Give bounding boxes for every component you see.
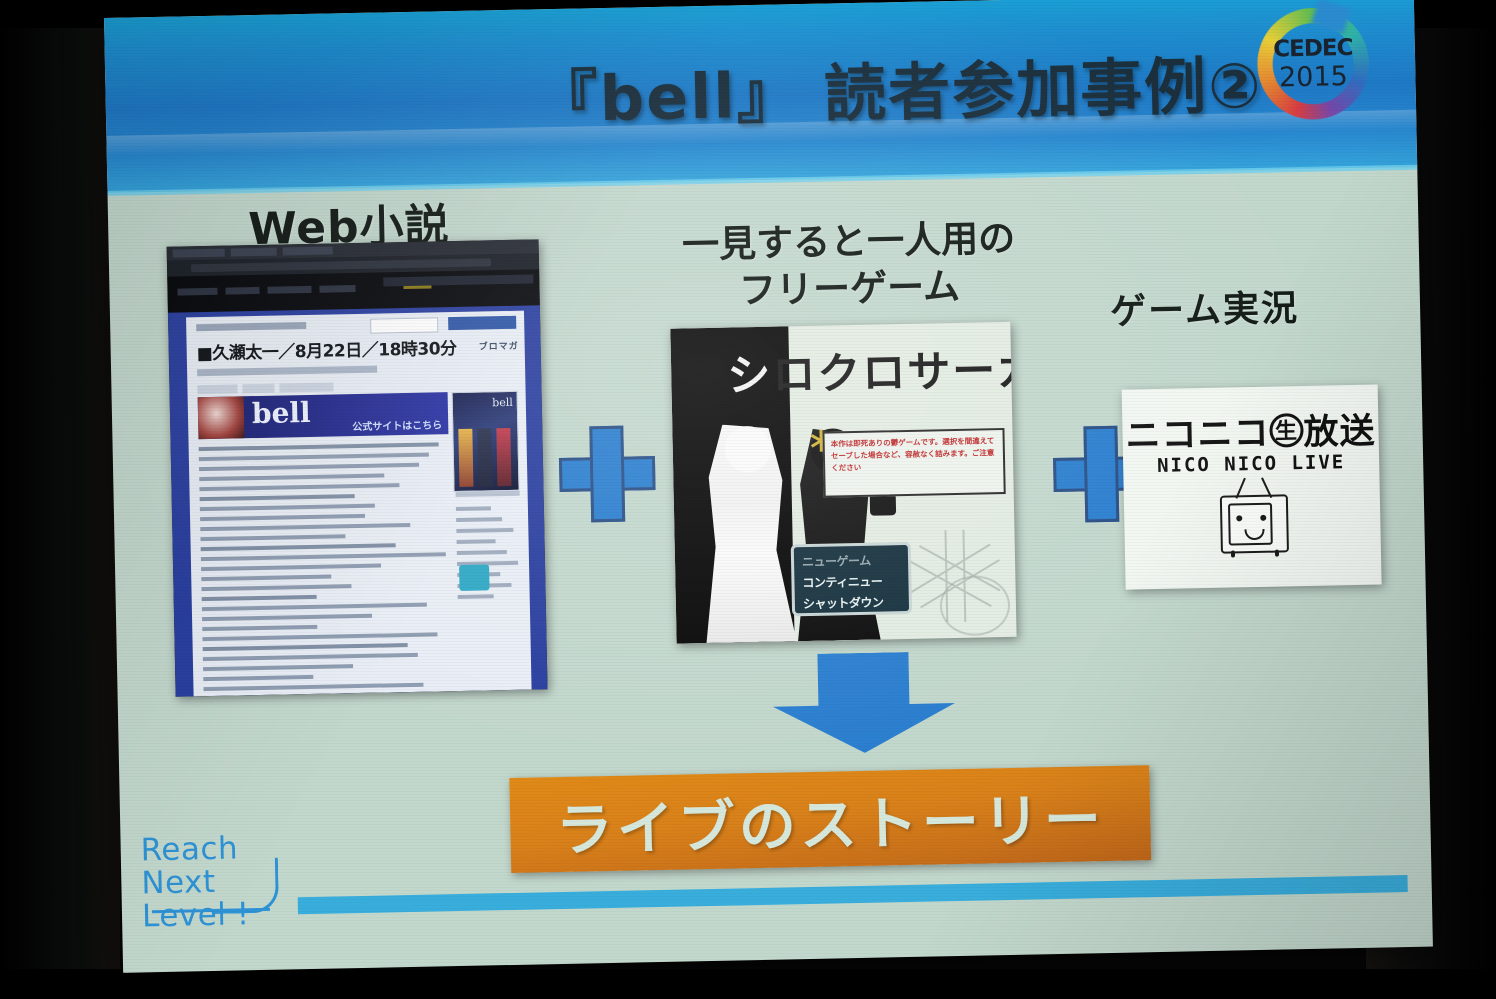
niconico-tv-mascot-icon bbox=[1220, 494, 1289, 553]
article-body-line bbox=[201, 552, 446, 561]
heading-live-stream: ゲーム実況 bbox=[1110, 279, 1300, 335]
room-left-edge bbox=[0, 0, 120, 999]
presentation-slide-wrapper: 『bell』 読者参加事例② CEDEC 2015 Web小説 一見すると一人用… bbox=[104, 0, 1423, 978]
sidebar-line bbox=[456, 517, 502, 522]
article-body-line bbox=[199, 483, 399, 491]
web-novel-browser-screenshot: ■久瀬太一／8月22日／18時30分 ブロマガ bell 公式サイトはこちら b… bbox=[167, 239, 548, 696]
bell-cover-image: bell bbox=[452, 391, 520, 492]
heading-free-game: 一見すると一人用の フリーゲーム bbox=[678, 215, 1020, 316]
article-body-line bbox=[199, 442, 439, 451]
article-body-line bbox=[199, 453, 429, 462]
reach-next-level-logo: Reach Next Level ! bbox=[140, 829, 292, 936]
game-title-menu[interactable]: ニューゲーム コンティニュー シャットダウン bbox=[791, 542, 912, 616]
site-nav-item bbox=[177, 288, 217, 296]
menu-item-continue[interactable]: コンティニュー bbox=[802, 571, 908, 594]
cover-character bbox=[477, 428, 492, 486]
sidebar-line bbox=[458, 594, 494, 599]
game-warning-box: 本作は即死ありの鬱ゲームです。選択を間違えてセーブした場合など、容赦なく詰みます… bbox=[822, 428, 1005, 498]
browser-tab bbox=[231, 248, 277, 257]
site-nav-item bbox=[267, 286, 311, 294]
sidebar-icon bbox=[459, 564, 490, 591]
heading-free-game-line2: フリーゲーム bbox=[679, 262, 1020, 316]
game-title-rest: ロクロサーガ bbox=[772, 345, 1017, 400]
cedec-logo: CEDEC 2015 bbox=[1256, 7, 1370, 121]
article-body-line bbox=[202, 625, 317, 631]
article-body-line bbox=[201, 564, 381, 572]
free-game-screenshot: シロクロサーガ 本作は即死ありの鬱ゲームです。選択を間違えてセーブした場合など、… bbox=[670, 322, 1016, 644]
article-tags bbox=[197, 378, 347, 390]
menu-item-shutdown[interactable]: シャットダウン bbox=[803, 592, 909, 615]
browser-tab bbox=[173, 249, 225, 258]
bell-banner-subtitle: 公式サイトはこちら bbox=[352, 416, 442, 433]
article-content: ■久瀬太一／8月22日／18時30分 ブロマガ bell 公式サイトはこちら b… bbox=[186, 311, 532, 697]
tv-eye-right bbox=[1260, 515, 1266, 521]
article-body-line bbox=[203, 683, 423, 691]
search-input[interactable] bbox=[370, 317, 438, 333]
tv-leg-right bbox=[1275, 550, 1279, 557]
site-brand-mark: ブロマガ bbox=[479, 339, 519, 353]
article-body-line bbox=[201, 575, 331, 582]
site-nav-item bbox=[225, 287, 259, 295]
sidebar-line bbox=[456, 528, 513, 533]
article-body-line bbox=[202, 614, 372, 621]
tv-antenna-right bbox=[1261, 477, 1272, 498]
cover-character bbox=[496, 428, 511, 486]
breadcrumb bbox=[196, 322, 306, 331]
site-nav-item bbox=[319, 285, 355, 293]
article-body-text bbox=[199, 442, 454, 691]
bell-banner-artwork bbox=[198, 396, 245, 439]
niconico-logo-part1: ニコニコ bbox=[1125, 414, 1270, 457]
article-body-line bbox=[204, 693, 394, 696]
article-body-line bbox=[199, 463, 419, 471]
bell-site-banner[interactable]: bell 公式サイトはこちら bbox=[198, 392, 449, 439]
down-arrow-icon bbox=[772, 651, 956, 755]
rnl-line-2: Next bbox=[141, 864, 216, 901]
game-warning-text: 本作は即死ありの鬱ゲームです。選択を間違えてセーブした場合など、容赦なく詰みます… bbox=[824, 430, 1003, 475]
sidebar-line bbox=[456, 506, 491, 511]
rnl-swoosh bbox=[213, 858, 279, 914]
article-meta bbox=[197, 366, 377, 377]
site-nav-account-links bbox=[383, 274, 533, 286]
page-title: 『bell』 読者参加事例② bbox=[535, 29, 1337, 155]
article-body-line bbox=[201, 584, 351, 591]
article-body-line bbox=[203, 643, 408, 651]
article-body-line bbox=[199, 473, 384, 481]
cover-caption bbox=[456, 491, 520, 497]
game-title-first-char: シ bbox=[727, 351, 773, 402]
article-body-line bbox=[203, 653, 418, 661]
article-body-line bbox=[203, 664, 353, 671]
bell-banner-title: bell bbox=[252, 396, 311, 430]
article-body-line bbox=[202, 603, 427, 612]
niconico-logo-japanese: ニコニコ生放送 bbox=[1122, 403, 1379, 459]
cover-character bbox=[458, 429, 473, 487]
article-body-line bbox=[200, 494, 355, 501]
article-body-line bbox=[202, 595, 317, 601]
plus-operator-1 bbox=[558, 425, 656, 523]
article-body-line bbox=[200, 514, 365, 521]
sidebar-line bbox=[457, 539, 496, 544]
article-body-line bbox=[200, 504, 375, 512]
niconico-nama-badge: 生 bbox=[1269, 413, 1304, 448]
sidebar-line bbox=[457, 550, 507, 555]
cedec-logo-year: 2015 bbox=[1257, 61, 1370, 94]
article-body-line bbox=[200, 523, 410, 531]
result-banner: ライブのストーリー bbox=[509, 765, 1151, 873]
niconico-logo-part2: 放送 bbox=[1303, 412, 1376, 453]
result-banner-text: ライブのストーリー bbox=[509, 773, 1151, 868]
menu-item-new-game[interactable]: ニューゲーム bbox=[802, 550, 908, 573]
article-body-line bbox=[201, 543, 396, 551]
article-body-line bbox=[200, 534, 345, 541]
bell-cover-title: bell bbox=[492, 396, 513, 409]
niconico-logo-roman: NICO NICO LIVE bbox=[1123, 450, 1379, 477]
tv-eye-left bbox=[1236, 515, 1242, 521]
game-title: シロクロサーガ bbox=[727, 336, 1017, 394]
browser-tab bbox=[283, 246, 333, 255]
article-body-line bbox=[202, 632, 437, 641]
tv-antenna-left bbox=[1235, 478, 1245, 499]
article-page: ■久瀬太一／8月22日／18時30分 ブロマガ bell 公式サイトはこちら b… bbox=[168, 305, 548, 696]
heading-free-game-line1: 一見すると一人用の bbox=[678, 215, 1019, 269]
niconico-live-logo-card: ニコニコ生放送 NICO NICO LIVE bbox=[1122, 385, 1382, 590]
tv-leg-left bbox=[1231, 550, 1235, 557]
footer-accent-bar bbox=[298, 875, 1408, 914]
presentation-slide: 『bell』 読者参加事例② CEDEC 2015 Web小説 一見すると一人用… bbox=[104, 0, 1433, 973]
wheel-shape bbox=[939, 575, 1010, 636]
cedec-logo-name: CEDEC bbox=[1257, 35, 1369, 63]
projection-photo: 『bell』 読者参加事例② CEDEC 2015 Web小説 一見すると一人用… bbox=[0, 0, 1496, 999]
search-button[interactable] bbox=[448, 316, 516, 330]
article-body-line bbox=[203, 675, 313, 681]
article-title: ■久瀬太一／8月22日／18時30分 bbox=[196, 333, 516, 367]
article-sidebar bbox=[456, 506, 523, 682]
